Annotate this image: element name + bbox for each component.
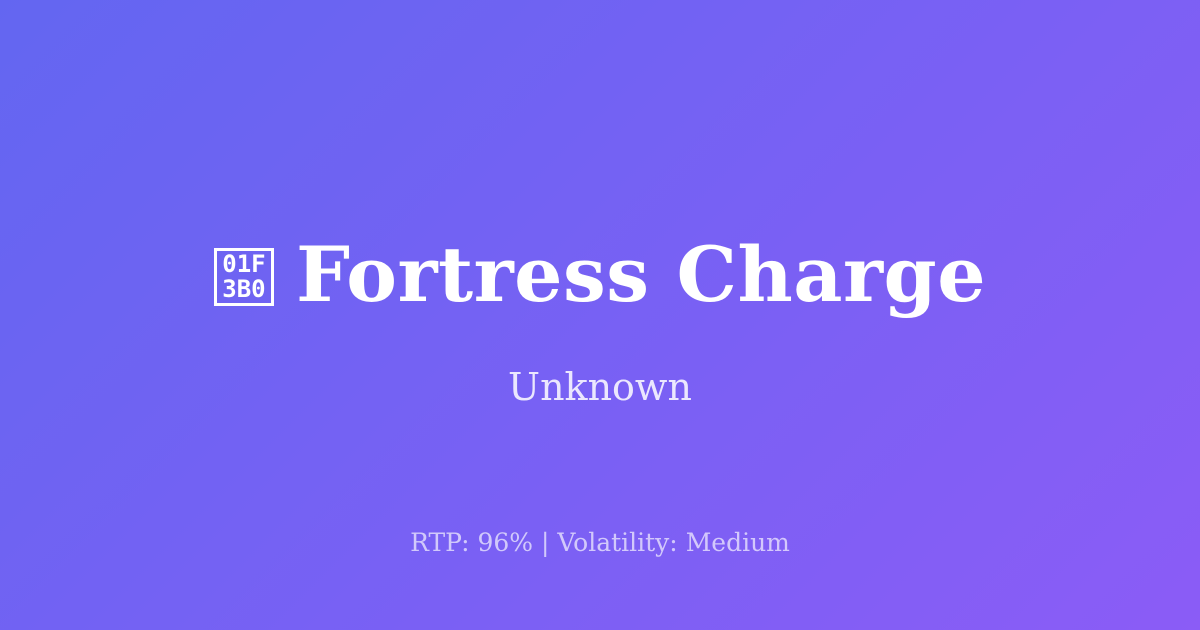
- volatility-label: Volatility:: [557, 528, 677, 557]
- rtp-value: 96%: [477, 528, 533, 557]
- tofu-codepoint-line-2: 3B0: [222, 277, 265, 302]
- slot-machine-emoji-icon: 01F 3B0: [214, 248, 274, 306]
- meta-space-2: [678, 528, 686, 557]
- meta-separator: |: [533, 528, 557, 557]
- rtp-label: RTP:: [410, 528, 469, 557]
- game-meta-line: RTP: 96% | Volatility: Medium: [0, 527, 1200, 559]
- title-row: 01F 3B0 Fortress Charge: [0, 232, 1200, 318]
- game-title: Fortress Charge: [296, 232, 986, 318]
- game-provider: Unknown: [0, 363, 1200, 411]
- volatility-value: Medium: [686, 528, 790, 557]
- tofu-codepoint-line-1: 01F: [222, 252, 265, 277]
- game-preview-card: 01F 3B0 Fortress Charge Unknown RTP: 96%…: [0, 0, 1200, 630]
